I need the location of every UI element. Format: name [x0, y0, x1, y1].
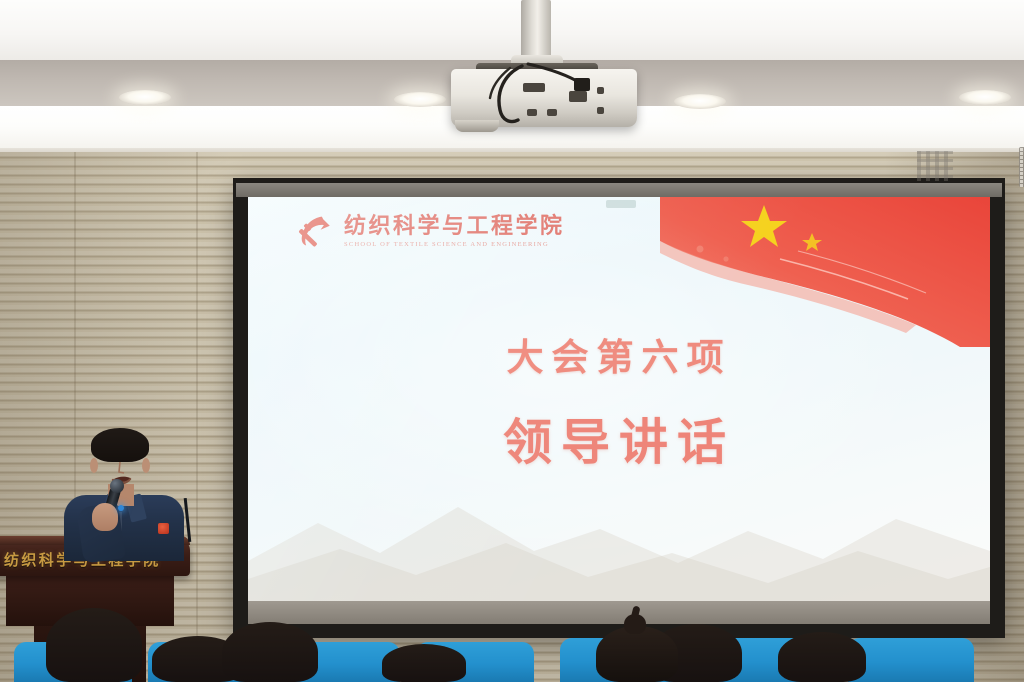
- microphone-head: [110, 479, 124, 493]
- projector-mount-pole: [521, 0, 551, 62]
- flag-banner-decoration: [660, 197, 990, 347]
- projector-control-panel[interactable]: [917, 151, 953, 181]
- school-logo: 纺织科学与工程学院 SCHOOL OF TEXTILE SCIENCE AND …: [293, 210, 565, 252]
- audience-head-with-bun: [596, 620, 678, 682]
- speaker-lapel-pin: [158, 523, 169, 534]
- ceiling-surface: [0, 0, 1024, 62]
- recessed-downlight: [394, 92, 446, 107]
- headline-line-1: 大会第六项: [248, 327, 990, 381]
- logo-chinese-name: 纺织科学与工程学院: [344, 214, 565, 239]
- seat-back: [848, 638, 974, 682]
- projector-cables: [470, 58, 630, 124]
- speaker-hair: [91, 428, 149, 462]
- hammer-and-sickle-emblem: [293, 210, 335, 252]
- conference-hall-scene: 纺织科学与工程学院 SCHOOL OF TEXTILE SCIENCE AND …: [0, 0, 1024, 682]
- projected-slide: 纺织科学与工程学院 SCHOOL OF TEXTILE SCIENCE AND …: [248, 197, 990, 601]
- headline-line-2: 领导讲话: [248, 403, 990, 474]
- logo-english-name: SCHOOL OF TEXTILE SCIENCE AND ENGINEERIN…: [344, 241, 565, 248]
- screen-top-band: [236, 183, 1002, 197]
- slide-headline: 大会第六项 领导讲话: [248, 327, 990, 474]
- recessed-downlight: [674, 94, 726, 109]
- screen-sensor-marker: [606, 200, 636, 208]
- audience-head: [778, 632, 866, 682]
- speaker-hand: [92, 503, 118, 531]
- microphone-led-indicator: [118, 505, 124, 511]
- audience-head: [46, 608, 142, 682]
- audience-head: [222, 622, 318, 682]
- recessed-downlight: [959, 90, 1011, 105]
- audience-head: [382, 644, 466, 682]
- recessed-downlight: [119, 90, 171, 105]
- projector-vent-grille: [1019, 147, 1024, 187]
